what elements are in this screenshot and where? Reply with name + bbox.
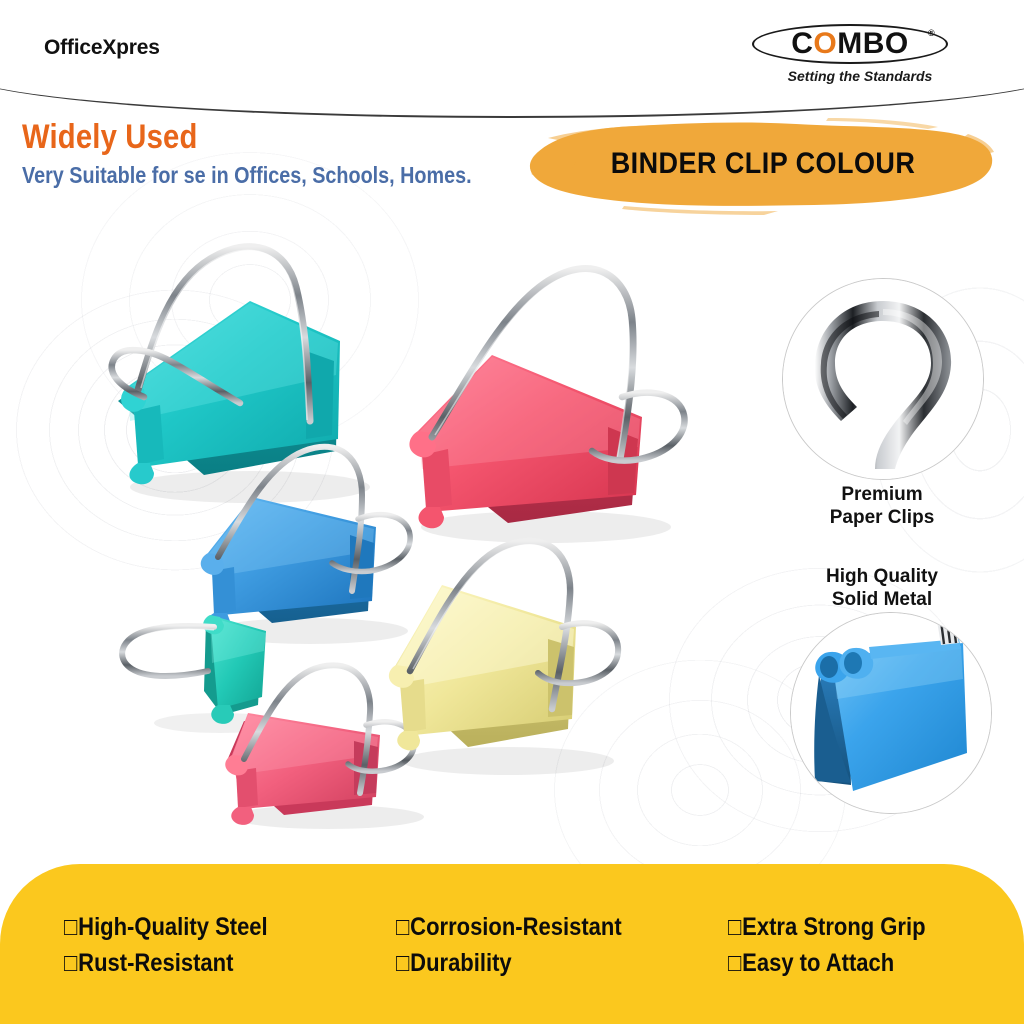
feature-column-1: □High-Quality Steel □Rust-Resistant [0,910,330,1024]
checkbox-icon: □ [396,910,409,946]
feature-bar: □High-Quality Steel □Rust-Resistant □Cor… [0,864,1024,1024]
product-marketing-image: OfficeXpres COMBO ® Setting the Standard… [0,0,1024,1024]
feature-item-easy-to-attach: □Easy to Attach [728,946,988,982]
feature-label: Easy to Attach [742,949,894,977]
feature-item-high-quality-steel: □High-Quality Steel [64,910,298,946]
feature-columns: □High-Quality Steel □Rust-Resistant □Cor… [0,864,1024,1024]
combo-logo-tagline: Setting the Standards [768,68,952,84]
feature-column-3: □Extra Strong Grip □Easy to Attach [660,910,1024,1024]
headline-block: Widely Used Very Suitable for se in Offi… [22,120,545,189]
banner-title: BINDER CLIP COLOUR [552,112,975,216]
feature-label: Extra Strong Grip [742,913,925,941]
high-quality-solid-metal-line2: Solid Metal [762,589,1002,612]
combo-letters-mbo: MBO [837,29,909,59]
header-bar: OfficeXpres COMBO ® Setting the Standard… [0,0,1024,96]
feature-column-2: □Corrosion-Resistant □Durability [330,910,660,1024]
headline-title: Widely Used [22,120,472,156]
high-quality-solid-metal-line1: High Quality [762,566,1002,589]
combo-logo: COMBO ® Setting the Standards [752,24,964,88]
checkbox-icon: □ [396,946,409,982]
product-photo [0,215,760,865]
premium-paper-clips-line2: Paper Clips [762,507,1002,530]
feature-label: High-Quality Steel [78,913,267,941]
feature-label: Durability [410,949,511,977]
feature-item-corrosion-resistant: □Corrosion-Resistant [396,910,628,946]
checkbox-icon: □ [64,946,77,982]
high-quality-solid-metal-image [790,612,992,814]
combo-letter-c: C [791,29,813,59]
checkbox-icon: □ [728,946,741,982]
checkbox-icon: □ [728,910,741,946]
registered-trademark-icon: ® [928,28,935,38]
combo-letter-o-orange: O [813,29,837,59]
premium-paper-clips-line1: Premium [762,484,1002,507]
medium-yellow-clip [376,523,646,783]
feature-label: Corrosion-Resistant [410,913,621,941]
premium-paper-clips-image [782,278,984,480]
premium-paper-clips-label: Premium Paper Clips [762,484,1002,530]
combo-logo-wordmark: COMBO [752,24,948,64]
banner-brushstroke: BINDER CLIP COLOUR [528,112,998,216]
feature-item-durability: □Durability [396,946,628,982]
brand-name: OfficeXpres [44,36,160,60]
feature-item-extra-strong-grip: □Extra Strong Grip [728,910,988,946]
feature-item-rust-resistant: □Rust-Resistant [64,946,298,982]
feature-label: Rust-Resistant [78,949,233,977]
checkbox-icon: □ [64,910,77,946]
large-pink-clip [396,255,696,555]
high-quality-solid-metal-label: High Quality Solid Metal [762,566,1002,612]
headline-subtitle: Very Suitable for se in Offices, Schools… [22,162,472,189]
